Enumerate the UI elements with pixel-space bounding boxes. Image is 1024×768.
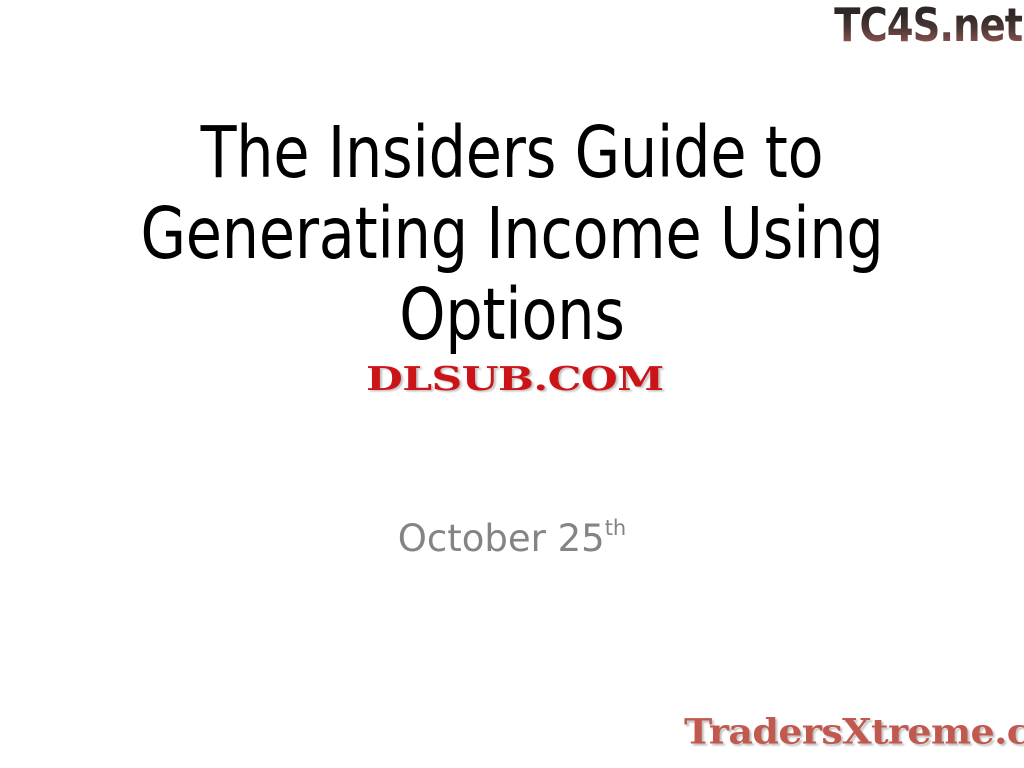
slide-title-line-1: The Insiders Guide to (98, 112, 926, 193)
slide-title-line-3: Options (98, 274, 926, 355)
slide-subtitle-date: October 25 (398, 517, 605, 560)
slide-title: The Insiders Guide to Generating Income … (62, 112, 962, 355)
slide-title-line-2: Generating Income Using (98, 193, 926, 274)
dlsub-watermark-text: DLSUB.COM (366, 362, 664, 396)
slide-subtitle-ordinal: th (605, 516, 627, 540)
tc4s-watermark-icon: TC4S.net (834, 0, 1022, 51)
dlsub-watermark-icon: DLSUB.COM (366, 362, 664, 396)
slide-subtitle: October 25th (62, 505, 962, 562)
tradersxtreme-watermark-icon: TradersXtreme.com (684, 712, 1024, 752)
presentation-slide: TC4S.net The Insiders Guide to Generatin… (0, 0, 1024, 768)
